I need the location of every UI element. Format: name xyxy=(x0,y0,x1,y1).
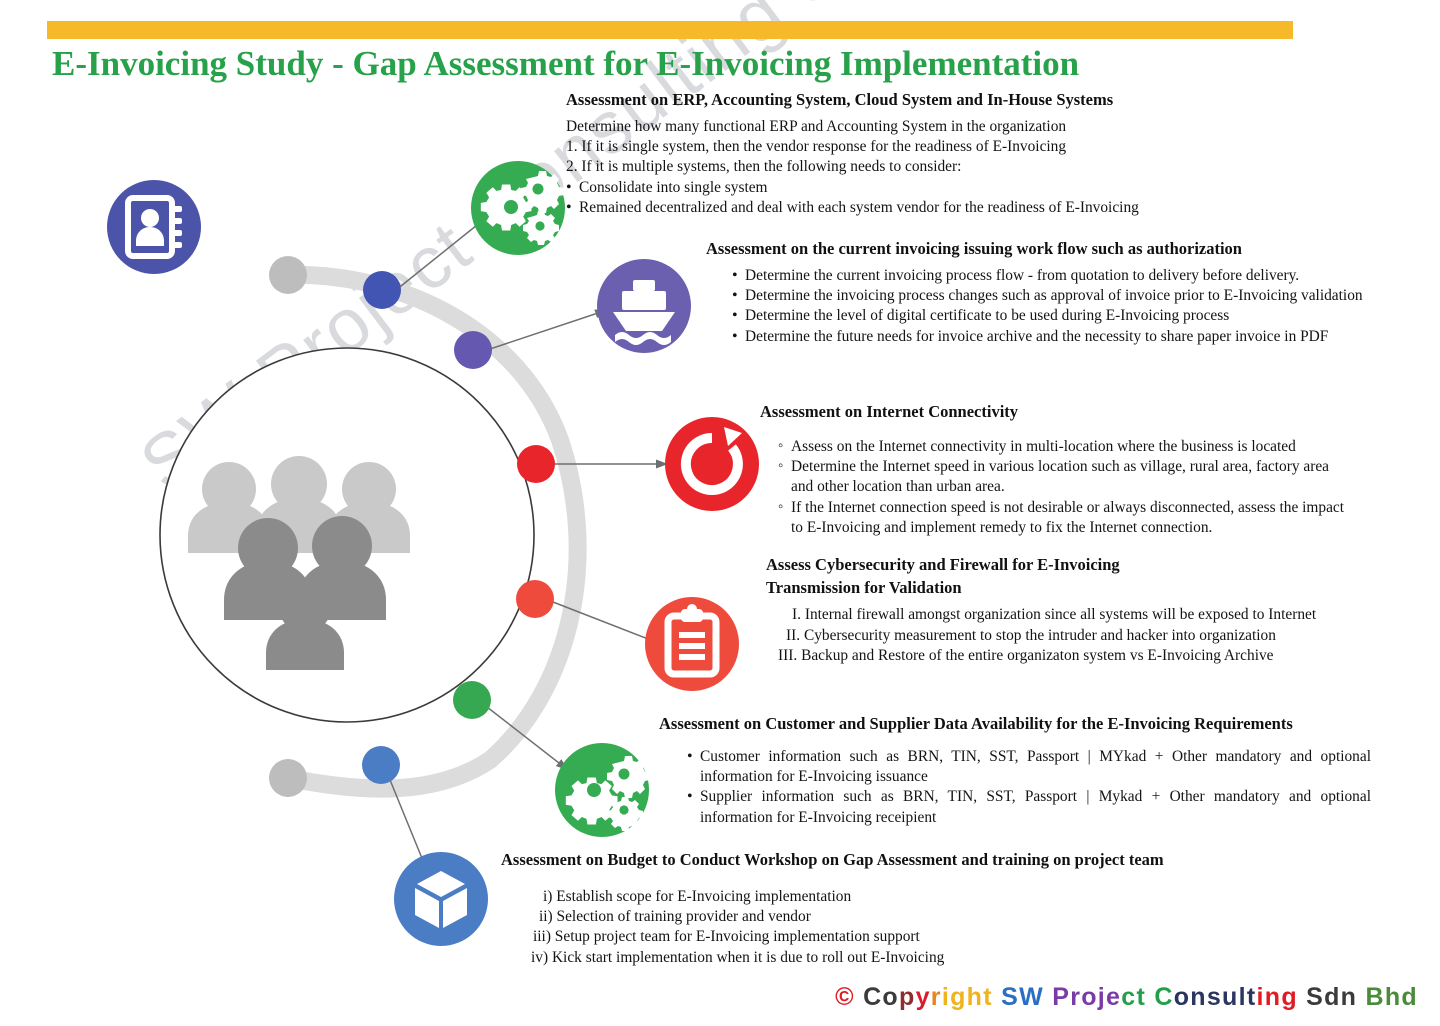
list-item: 2. If it is multiple systems, then the f… xyxy=(566,157,1366,177)
badge-security xyxy=(645,597,739,691)
node-dot-red xyxy=(517,445,555,483)
infographic-page: SW Project Consulting Sdn Bhd E-Invoicin… xyxy=(0,0,1440,1026)
node-dot-green xyxy=(453,681,491,719)
badge-internet xyxy=(665,417,759,511)
copyright-part xyxy=(1044,983,1052,1011)
list-item: Supplier information such as BRN, TIN, S… xyxy=(687,787,1371,828)
section-erp-intro: Determine how many functional ERP and Ac… xyxy=(566,117,1366,137)
badge-contacts xyxy=(107,180,201,274)
list-item: Determine the level of digital certifica… xyxy=(732,306,1366,326)
node-dot-gray-top xyxy=(269,256,307,294)
list-item: Determine the future needs for invoice a… xyxy=(732,327,1366,347)
list-item: 1. If it is single system, then the vend… xyxy=(566,137,1366,157)
list-item: Remained decentralized and deal with eac… xyxy=(566,198,1366,218)
section-security-heading-line2: Transmission for Validation xyxy=(766,578,1336,599)
node-dot-gray-bottom xyxy=(269,759,307,797)
list-item: i) Establish scope for E-Invoicing imple… xyxy=(531,887,1291,907)
section-workflow: Assessment on the current invoicing issu… xyxy=(706,239,1366,347)
copyright-notice: © Copyright SW Project Consulting Sdn Bh… xyxy=(835,983,1418,1012)
section-data-heading: Assessment on Customer and Supplier Data… xyxy=(659,714,1371,735)
connector-workflow xyxy=(487,310,607,350)
section-budget-heading: Assessment on Budget to Conduct Workshop… xyxy=(501,850,1291,871)
copyright-part: y xyxy=(916,983,931,1011)
section-internet-bullet-list: Assess on the Internet connectivity in m… xyxy=(778,437,1345,539)
copyright-part: Co xyxy=(855,983,899,1011)
badge-erp xyxy=(471,161,565,255)
copyright-part: p xyxy=(899,983,916,1011)
section-data-bullet-list: Customer information such as BRN, TIN, S… xyxy=(687,747,1371,828)
section-security-heading-line1: Assess Cybersecurity and Firewall for E-… xyxy=(766,555,1336,576)
section-security-item-list: I. Internal firewall amongst organizatio… xyxy=(778,605,1336,666)
section-security: Assess Cybersecurity and Firewall for E-… xyxy=(766,555,1336,666)
copyright-part: Proje xyxy=(1052,983,1121,1011)
section-internet: Assessment on Internet Connectivity Asse… xyxy=(760,402,1345,538)
node-dot-indigo xyxy=(363,271,401,309)
list-item: Determine the Internet speed in various … xyxy=(778,457,1345,498)
copyright-part xyxy=(993,983,1001,1011)
page-title: E-Invoicing Study - Gap Assessment for E… xyxy=(52,44,1079,84)
copyright-part: © xyxy=(835,983,855,1011)
copyright-part: ct xyxy=(1121,983,1146,1011)
header-accent-bar xyxy=(47,21,1293,39)
copyright-part: Sdn xyxy=(1298,983,1366,1011)
copyright-part: ing xyxy=(1257,983,1298,1011)
list-item: I. Internal firewall amongst organizatio… xyxy=(778,605,1336,625)
copyright-part: Bhd xyxy=(1366,983,1419,1011)
node-dot-purple xyxy=(454,331,492,369)
list-item: Determine the invoicing process changes … xyxy=(732,286,1366,306)
list-item: Customer information such as BRN, TIN, S… xyxy=(687,747,1371,788)
list-item: If the Internet connection speed is not … xyxy=(778,498,1345,539)
connector-erp xyxy=(396,217,487,290)
list-item: Assess on the Internet connectivity in m… xyxy=(778,437,1345,457)
section-workflow-bullet-list: Determine the current invoicing process … xyxy=(732,266,1366,347)
section-data: Assessment on Customer and Supplier Data… xyxy=(659,714,1371,828)
section-internet-heading: Assessment on Internet Connectivity xyxy=(760,402,1345,423)
list-item: III. Backup and Restore of the entire or… xyxy=(778,646,1336,666)
section-erp-bullet-list: Consolidate into single system Remained … xyxy=(566,178,1366,219)
node-dot-blue xyxy=(362,746,400,784)
copyright-part: SW xyxy=(1001,983,1044,1011)
section-erp-numbered-list: 1. If it is single system, then the vend… xyxy=(566,137,1366,178)
list-item: Consolidate into single system xyxy=(566,178,1366,198)
section-budget: Assessment on Budget to Conduct Workshop… xyxy=(501,850,1291,968)
list-item: iii) Setup project team for E-Invoicing … xyxy=(531,927,1291,947)
list-item: Determine the current invoicing process … xyxy=(732,266,1366,286)
badge-data xyxy=(555,743,650,837)
copyright-part: onsult xyxy=(1174,983,1257,1011)
list-item: iv) Kick start implementation when it is… xyxy=(531,948,1291,968)
copyright-part: r xyxy=(931,983,942,1011)
copyright-part: ight xyxy=(942,983,993,1011)
badge-budget xyxy=(394,852,488,946)
copyright-part: C xyxy=(1154,983,1173,1011)
list-item: ii) Selection of training provider and v… xyxy=(531,907,1291,927)
node-dot-coral xyxy=(516,580,554,618)
section-erp: Assessment on ERP, Accounting System, Cl… xyxy=(566,90,1366,218)
section-workflow-heading: Assessment on the current invoicing issu… xyxy=(706,239,1366,260)
section-erp-heading: Assessment on ERP, Accounting System, Cl… xyxy=(566,90,1366,111)
list-item: II. Cybersecurity measurement to stop th… xyxy=(778,626,1336,646)
section-budget-item-list: i) Establish scope for E-Invoicing imple… xyxy=(531,887,1291,968)
badge-workflow xyxy=(597,259,691,353)
